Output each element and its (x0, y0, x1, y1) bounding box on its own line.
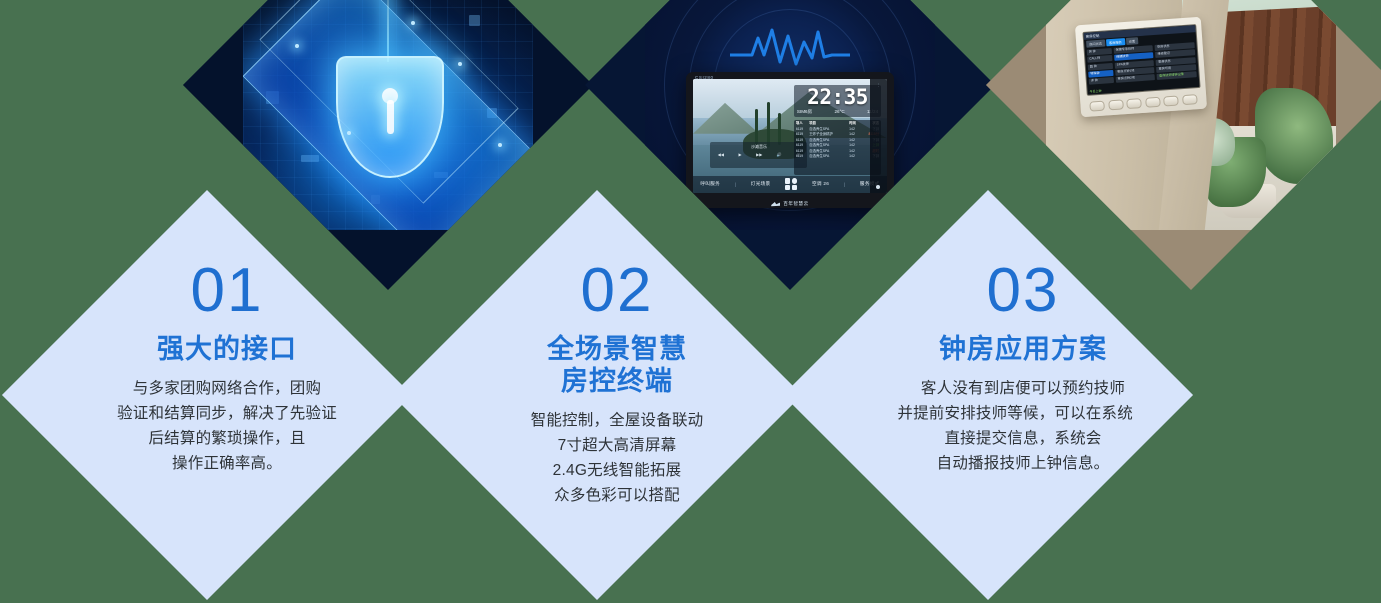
home-grid-icon[interactable] (785, 178, 797, 190)
camera-icon (876, 185, 880, 189)
call-service-button[interactable]: 呼叫服务 (700, 181, 720, 187)
wall-control-panel[interactable]: 客房控制 房间状态 客房服务 设置 房 钟 CALL师 圆 钟 特殊钟 退 钟 (1075, 17, 1207, 118)
right-item-query[interactable]: 查询技师排钟记录 (1157, 72, 1197, 81)
light-scene-button[interactable]: 灯光场景 (751, 181, 771, 187)
media-title: 沙滩音乐 (710, 142, 807, 150)
card-description-01: 与多家团购网络合作，团购 验证和结算同步，解决了先验证 后结算的繁琐操作，且 操… (62, 376, 352, 476)
feature-diamond-stage: CSI280 沙滩音乐 (0, 0, 1381, 603)
card-title-02: 全场景智慧 房控终端 (452, 334, 742, 398)
panel-status-line: 今日上钟 (1089, 89, 1101, 94)
device-footer: 百年智慧云 (686, 201, 894, 207)
clock-widget: 22:35 SIM6房 26°C 11/24 (794, 85, 881, 117)
left-item[interactable]: CALL师 (1087, 56, 1112, 64)
left-item[interactable]: 退 钟 (1089, 78, 1114, 86)
clock-time: 22:35 (797, 87, 878, 108)
media-next-icon[interactable]: ▶▶ (756, 152, 762, 157)
feature-card-02[interactable]: 02 全场景智慧 房控终端 智能控制，全屋设备联动 7寸超大高清屏幕 2.4G无… (392, 190, 802, 600)
brand-logo-icon (771, 202, 780, 207)
card-description-02: 智能控制，全屋设备联动 7寸超大高清屏幕 2.4G无线智能拓展 众多色彩可以搭配 (452, 408, 742, 508)
card-number-02: 02 (452, 260, 742, 322)
media-volume-icon[interactable]: 🔊 (777, 152, 782, 157)
screen-right-rail: ︙ (870, 79, 887, 193)
brand-name: 百年智慧云 (783, 201, 808, 207)
divider: | (735, 182, 736, 187)
divider: | (844, 182, 845, 187)
media-play-icon[interactable]: ▶ (739, 152, 742, 157)
card-number-01: 01 (62, 260, 352, 322)
temperature-label: 26°C (834, 109, 844, 114)
rail-label: ︙ (876, 83, 881, 86)
screen-bottom-toolbar: 呼叫服务 | 灯光场景 空调 26 | 服务模式 (693, 176, 887, 193)
card-number-03: 03 (843, 260, 1133, 322)
card-title-03: 钟房应用方案 (843, 334, 1133, 366)
panel-left-column: 房 钟 CALL师 圆 钟 特殊钟 退 钟 (1087, 48, 1115, 88)
air-conditioner-button[interactable]: 空调 26 (812, 181, 829, 187)
hard-button[interactable] (1163, 96, 1179, 107)
waveform-icon (730, 24, 850, 70)
card-title-01: 强大的接口 (62, 334, 352, 366)
hard-button[interactable] (1126, 98, 1142, 109)
hard-button[interactable] (1089, 101, 1105, 112)
panel-right-column: 空房状态 维修登记 客满状态 客房可用 查询技师排钟记录 (1155, 42, 1197, 83)
mid-item[interactable]: 客房点钟2项 (1115, 75, 1155, 84)
service-list-table[interactable]: 项人 项目 时间 状态 6119 自选养生SPA 142 下钟 (794, 120, 881, 175)
card-description-03: 客人没有到店便可以预约技师 并提前安排技师等候，可以在系统中 直接提交信息，系统… (843, 376, 1133, 476)
light-beam (387, 0, 389, 62)
hard-button[interactable] (1145, 97, 1161, 108)
hard-button[interactable] (1108, 100, 1124, 111)
media-widget[interactable]: 沙滩音乐 ◀◀ ▶ ▶▶ 🔊 ☰ (710, 142, 807, 168)
media-prev-icon[interactable]: ◀◀ (718, 152, 724, 157)
hard-button[interactable] (1182, 94, 1198, 105)
panel-lcd-screen[interactable]: 客房控制 房间状态 客房服务 设置 房 钟 CALL师 圆 钟 特殊钟 退 钟 (1082, 24, 1200, 96)
room-label: SIM6房 (797, 109, 812, 115)
table-row[interactable]: 6119 自选养生SPA 142 下钟 (796, 154, 879, 160)
feature-card-03[interactable]: 03 钟房应用方案 客人没有到店便可以预约技师 并提前安排技师等候，可以在系统中… (783, 190, 1193, 600)
tablet-screen[interactable]: 沙滩音乐 ◀◀ ▶ ▶▶ 🔊 ☰ 22:35 (693, 79, 887, 193)
tablet-device: CSI280 沙滩音乐 (686, 72, 894, 208)
panel-mid-column: 保健专享技师 保健技师 SPA技师 客房点钟1项 客房点钟2项 (1113, 45, 1155, 86)
